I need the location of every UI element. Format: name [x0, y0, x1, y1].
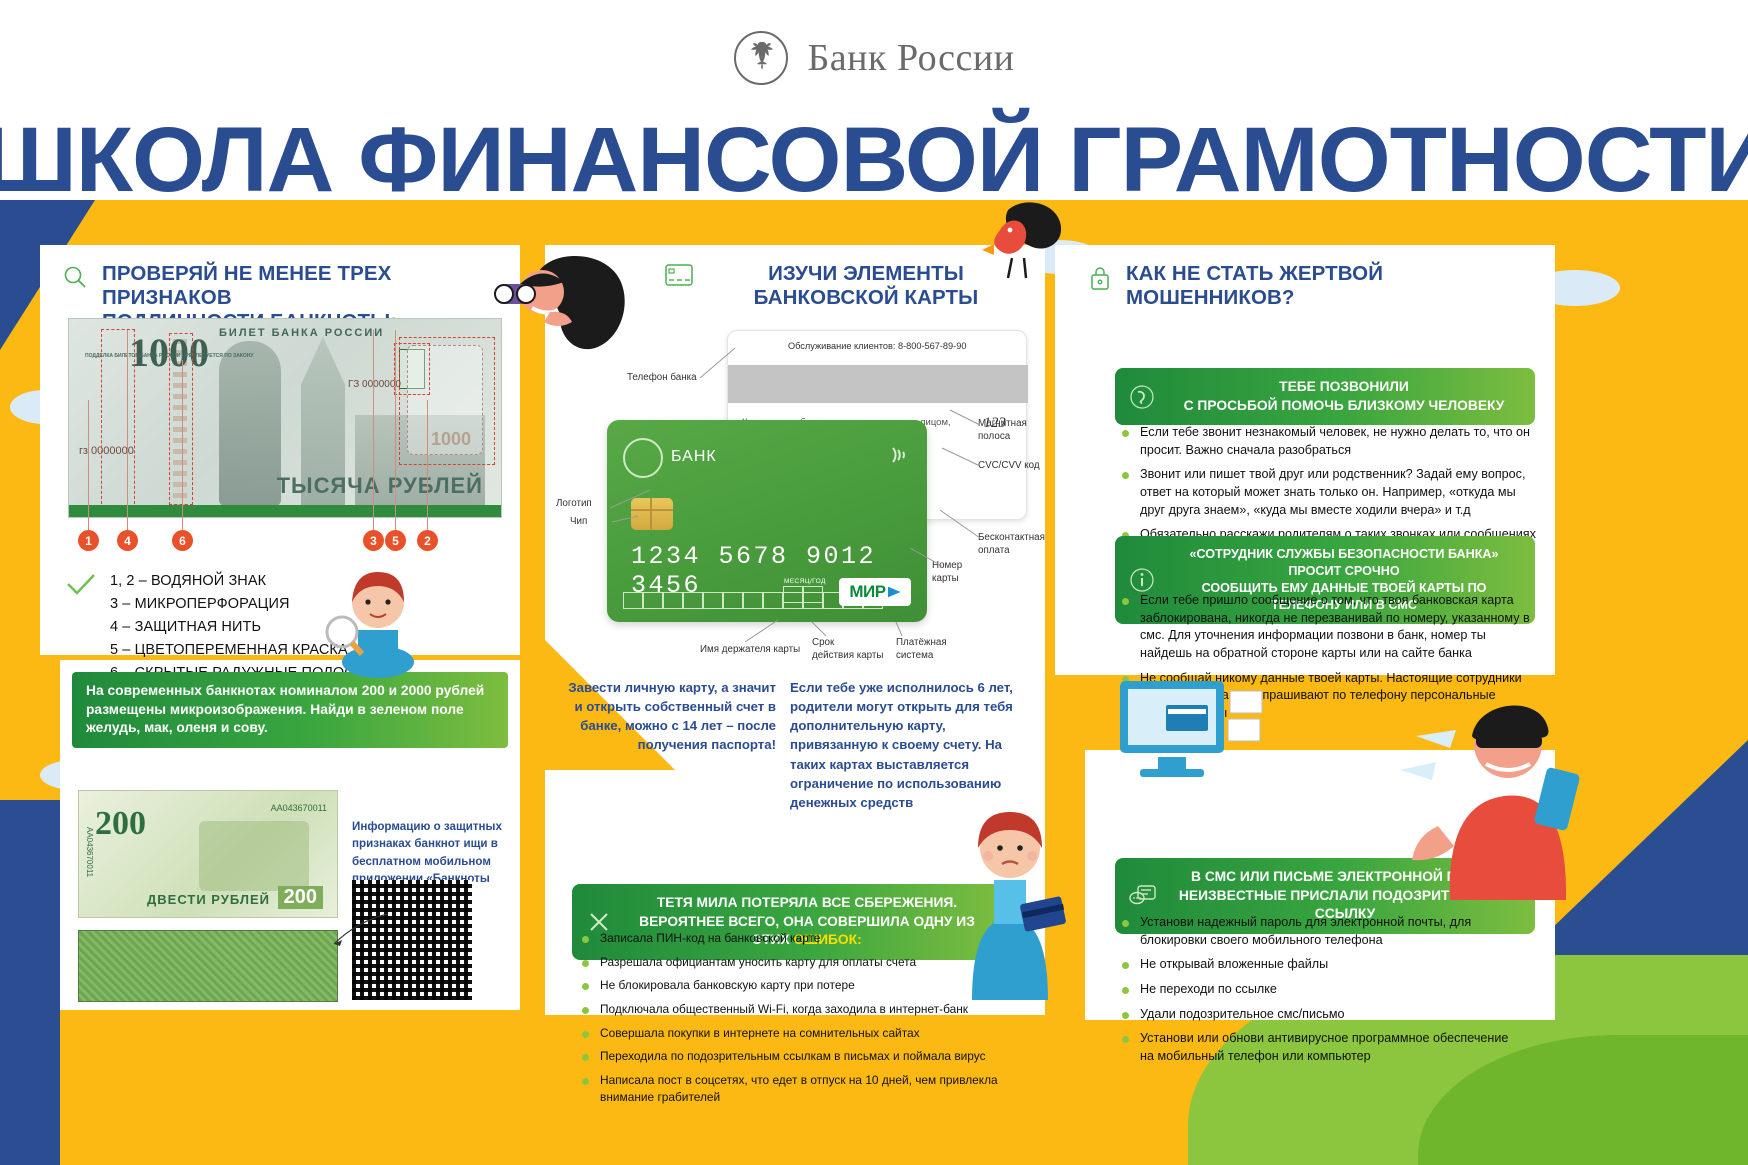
banknote-200-green-field [78, 930, 338, 1002]
banknote-marker-2: 2 [417, 530, 438, 551]
label-payment-system: Платёжнаясистема [896, 637, 947, 662]
right-section-heading: КАК НЕ СТАТЬ ЖЕРТВОЙМОШЕННИКОВ? [1088, 262, 1528, 310]
banknote-1000: 1000 1000 БИЛЕТ БАНКА РОССИИ ПОДДЕЛКА БИ… [68, 318, 502, 518]
banknote-marker-6: 6 [172, 530, 193, 551]
card-bank-logo-icon [623, 438, 663, 478]
banknote-200-corner-value: 200 [278, 886, 323, 909]
check-mark-icon [66, 572, 96, 601]
banknote-marker-4: 4 [117, 530, 138, 551]
banknote-200-serial: АА043670011 [271, 803, 327, 813]
mistake-item: Написала пост в соцсетях, что едет в отп… [578, 1072, 1008, 1105]
center-heading-line1: ИЗУЧИ ЭЛЕМЕНТЫ [768, 262, 964, 285]
fraud-banner-call-line1: ТЕБЕ ПОЗВОНИЛИ [1279, 379, 1409, 394]
mistake-item: Разрешала официантам уносить карту для о… [578, 954, 1008, 971]
tip-item: Установи надежный пароль для электронной… [1118, 914, 1518, 949]
banknote-highlight-1 [101, 329, 135, 509]
bank-card-icon [665, 264, 693, 291]
banknote-marker-5: 5 [385, 530, 406, 551]
center-heading-line2: БАНКОВСКОЙ КАРТЫ [754, 286, 979, 309]
bank-name: Банк России [807, 36, 1014, 80]
chat-icon [1129, 884, 1157, 908]
label-magnetic-stripe: Магнитнаяполоса [978, 418, 1027, 443]
double-headed-eagle-icon [733, 30, 789, 86]
banknote-200-words: ДВЕСТИ РУБЛЕЙ [147, 892, 270, 907]
bank-logo-row: Банк России [0, 0, 1748, 86]
pointer-arrow-icon [330, 910, 390, 950]
banknote-200-monument [199, 821, 309, 891]
illustration-thief-binoculars [480, 240, 660, 360]
banknote-statue-image [219, 341, 281, 506]
illustration-bird-stealing-card [980, 196, 1070, 306]
illustration-hacker-phone [1390, 640, 1610, 900]
marker-leader-line [88, 400, 89, 530]
banknote-words: ТЫСЯЧА РУБЛЕЙ [277, 473, 483, 499]
illustration-computer-phishing [1110, 665, 1270, 805]
mistake-item: Переходила по подозрительным ссылкам в п… [578, 1048, 1008, 1065]
right-heading-line2: МОШЕННИКОВ? [1126, 286, 1295, 309]
mistake-item: Записала ПИН-код на банковской карте [578, 930, 1008, 947]
fraud-banner-security-line1: «СОТРУДНИК СЛУЖБЫ БЕЗОПАСНОСТИ БАНКА» ПР… [1189, 547, 1498, 578]
tip-item: Установи или обнови антивирусное програм… [1118, 1030, 1518, 1065]
banknote-bank-line: БИЛЕТ БАНКА РОССИИ [219, 327, 384, 339]
tip-item: Не переходи по ссылке [1118, 981, 1518, 999]
lock-icon [1088, 264, 1112, 297]
banknote-200-serial-vertical: АА043670011 [85, 827, 94, 877]
right-heading-line1: КАК НЕ СТАТЬ ЖЕРТВОЙ [1126, 262, 1383, 285]
label-chip: Чип [570, 516, 587, 529]
marker-leader-line [127, 330, 128, 530]
card-payment-system-logo: МИР [839, 578, 911, 606]
label-card-number: Номеркарты [932, 560, 962, 585]
mistake-item: Подключала общественный Wi-Fi, когда зах… [578, 1001, 1008, 1018]
center-section-heading: ИЗУЧИ ЭЛЕМЕНТЫБАНКОВСКОЙ КАРТЫ [665, 262, 1025, 310]
card-expiry-label: МЕСЯЦ/ГОД [784, 578, 826, 585]
card-chip [631, 498, 673, 530]
marker-leader-line [373, 330, 374, 530]
decor-blue-block-left [0, 800, 60, 1165]
card-bank-label: БАНК [671, 448, 717, 466]
tip-item: Не открывай вложенные файлы [1118, 956, 1518, 974]
banknote-200: 200 АА043670011 АА043670011 ДВЕСТИ РУБЛЕ… [78, 790, 338, 918]
bank-card-front: БАНК 1234 5678 9012 3456 МЕСЯЦ/ГОД МИР [607, 420, 927, 622]
marker-leader-line [427, 400, 428, 530]
label-bank-phone: Телефон банка [627, 372, 697, 385]
contactless-icon [885, 442, 911, 468]
card-payment-system-name: МИР [849, 582, 885, 602]
magnifier-icon [62, 264, 88, 295]
marker-leader-line [182, 360, 183, 530]
banknote-green-strip [69, 505, 502, 517]
banknote-marker-1: 1 [78, 530, 99, 551]
page-title: ШКОЛА ФИНАНСОВОЙ ГРАМОТНОСТИ [0, 108, 1748, 213]
label-logo: Логотип [556, 498, 592, 511]
tip-item: Если тебе звонит незнакомый человек, не … [1118, 424, 1538, 459]
mistake-item: Совершала покупки в интернете на сомните… [578, 1025, 1008, 1042]
mistake-item: Не блокировала банковскую карту при поте… [578, 977, 1008, 994]
tip-item: Удали подозрительное смс/письмо [1118, 1006, 1518, 1024]
tip-item: Звонит или пишет твой друг или родственн… [1118, 466, 1538, 519]
illustration-woman-with-card [950, 760, 1070, 1000]
label-cvv: CVC/CVV код [978, 460, 1040, 473]
marker-leader-line [395, 330, 396, 530]
poster-root: Банк России ШКОЛА ФИНАНСОВОЙ ГРАМОТНОСТИ… [0, 0, 1748, 1165]
card-magnetic-stripe [728, 365, 1028, 403]
banknote-200-denomination: 200 [95, 805, 146, 843]
fraud-banner-call: ТЕБЕ ПОЗВОНИЛИ С ПРОСЬБОЙ ПОМОЧЬ БЛИЗКОМ… [1115, 368, 1535, 425]
label-expiry: Срокдействия карты [812, 637, 883, 662]
fraud-banner-call-line2: С ПРОСЬБОЙ ПОМОЧЬ БЛИЗКОМУ ЧЕЛОВЕКУ [1184, 398, 1505, 413]
poster-header: Банк России ШКОЛА ФИНАНСОВОЙ ГРАМОТНОСТИ [0, 0, 1748, 228]
label-holder-name: Имя держателя карты [700, 644, 800, 657]
phone-icon [1129, 384, 1155, 410]
mistakes-banner-line1: ТЕТЯ МИЛА ПОТЕРЯЛА ВСЕ СБЕРЕЖЕНИЯ. [657, 895, 957, 910]
label-contactless: Бесконтактнаяоплата [978, 532, 1045, 557]
banknote-highlight-2 [169, 333, 193, 505]
mistakes-list: Записала ПИН-код на банковской картеРазр… [578, 930, 1008, 1112]
info-icon [1129, 567, 1155, 593]
left-heading-line1: ПРОВЕРЯЙ НЕ МЕНЕЕ ТРЕХ ПРИЗНАКОВ [102, 262, 391, 309]
banknote-marker-3: 3 [363, 530, 384, 551]
micro-images-banner: На современных банкнотах номиналом 200 и… [72, 672, 508, 748]
fraud-call-bullets: Если тебе звонит незнакомый человек, не … [1118, 424, 1538, 551]
fraud-sms-bullets: Установи надежный пароль для электронной… [1118, 914, 1518, 1072]
card-support-phone: Обслуживание клиентов: 8-800-567-89-90 [788, 341, 966, 351]
illustration-girl-magnifier [318, 558, 438, 678]
card-age-note-left: Завести личную карту, а значит и открыть… [566, 678, 776, 755]
